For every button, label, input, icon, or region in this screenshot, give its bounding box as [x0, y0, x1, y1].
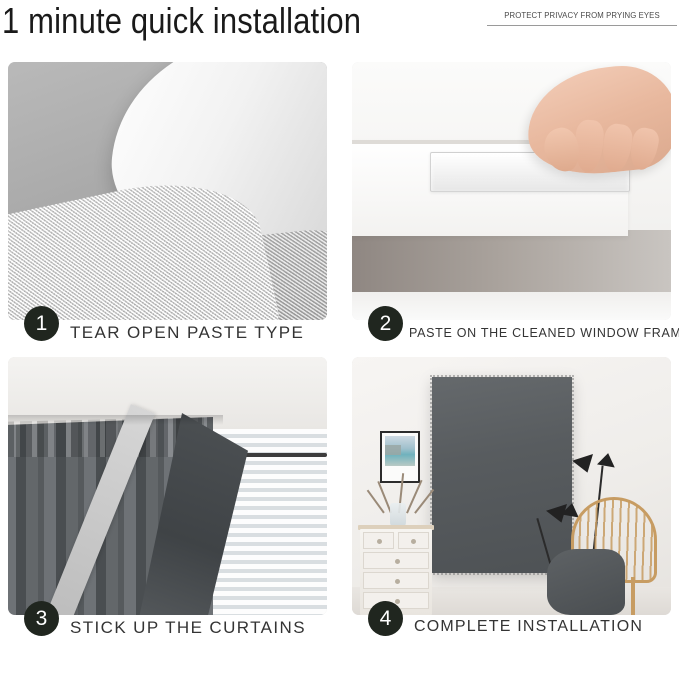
- step-2-caption-row: 2 PASTE ON THE CLEANED WINDOW FRAME: [352, 320, 671, 351]
- step-badge-4: 4: [368, 601, 403, 636]
- step-card-3: 3 STICK UP THE CURTAINS: [8, 357, 327, 646]
- step-1-photo: [8, 62, 327, 320]
- step-3-caption: STICK UP THE CURTAINS: [70, 618, 306, 638]
- step-4-photo: [352, 357, 671, 615]
- page-title: 1 minute quick installation: [2, 0, 361, 44]
- step-4-caption: COMPLETE INSTALLATION: [414, 618, 643, 636]
- artwork-image: [385, 436, 415, 466]
- branch: [406, 480, 422, 513]
- step-card-2: 2 PASTE ON THE CLEANED WINDOW FRAME: [352, 62, 671, 351]
- gray-wall-band: [352, 230, 671, 292]
- tagline-divider: [487, 25, 677, 26]
- step-badge-3: 3: [24, 601, 59, 636]
- step-2-caption: PASTE ON THE CLEANED WINDOW FRAME: [409, 326, 679, 340]
- step-1-caption-row: 1 TEAR OPEN PASTE TYPE: [8, 320, 327, 351]
- drawer[interactable]: [363, 532, 394, 549]
- tagline-text: PROTECT PRIVACY FROM PRYING EYES: [492, 11, 673, 20]
- step-badge-1: 1: [24, 306, 59, 341]
- drawer[interactable]: [363, 572, 429, 589]
- drawer-knob[interactable]: [411, 539, 416, 544]
- drawer-knob[interactable]: [395, 559, 400, 564]
- step-3-caption-row: 3 STICK UP THE CURTAINS: [8, 615, 327, 646]
- step-3-photo: [8, 357, 327, 615]
- curtain-top-shadow: [8, 415, 223, 425]
- wooden-chair: [565, 497, 663, 615]
- step-card-4: 4 COMPLETE INSTALLATION: [352, 357, 671, 646]
- step-card-1: 1 TEAR OPEN PASTE TYPE: [8, 62, 327, 351]
- page-header: 1 minute quick installation PROTECT PRIV…: [0, 0, 679, 58]
- step-4-caption-row: 4 COMPLETE INSTALLATION: [352, 615, 671, 646]
- installed-blackout-curtain: [432, 377, 572, 573]
- steps-grid: 1 TEAR OPEN PASTE TYPE 2 PASTE ON THE CL…: [8, 62, 671, 646]
- gray-throw-blanket: [547, 549, 625, 615]
- chair-leg: [631, 577, 635, 615]
- drawer[interactable]: [363, 552, 429, 569]
- step-2-photo: [352, 62, 671, 320]
- white-dresser: [360, 529, 432, 615]
- drawer-knob[interactable]: [395, 579, 400, 584]
- artwork-landmass: [385, 445, 401, 455]
- drawer-knob[interactable]: [395, 599, 400, 604]
- step-1-caption: TEAR OPEN PASTE TYPE: [70, 323, 304, 343]
- step-badge-2: 2: [368, 306, 403, 341]
- tagline-block: PROTECT PRIVACY FROM PRYING EYES: [487, 11, 677, 26]
- drawer[interactable]: [398, 532, 429, 549]
- drawer-knob[interactable]: [377, 539, 382, 544]
